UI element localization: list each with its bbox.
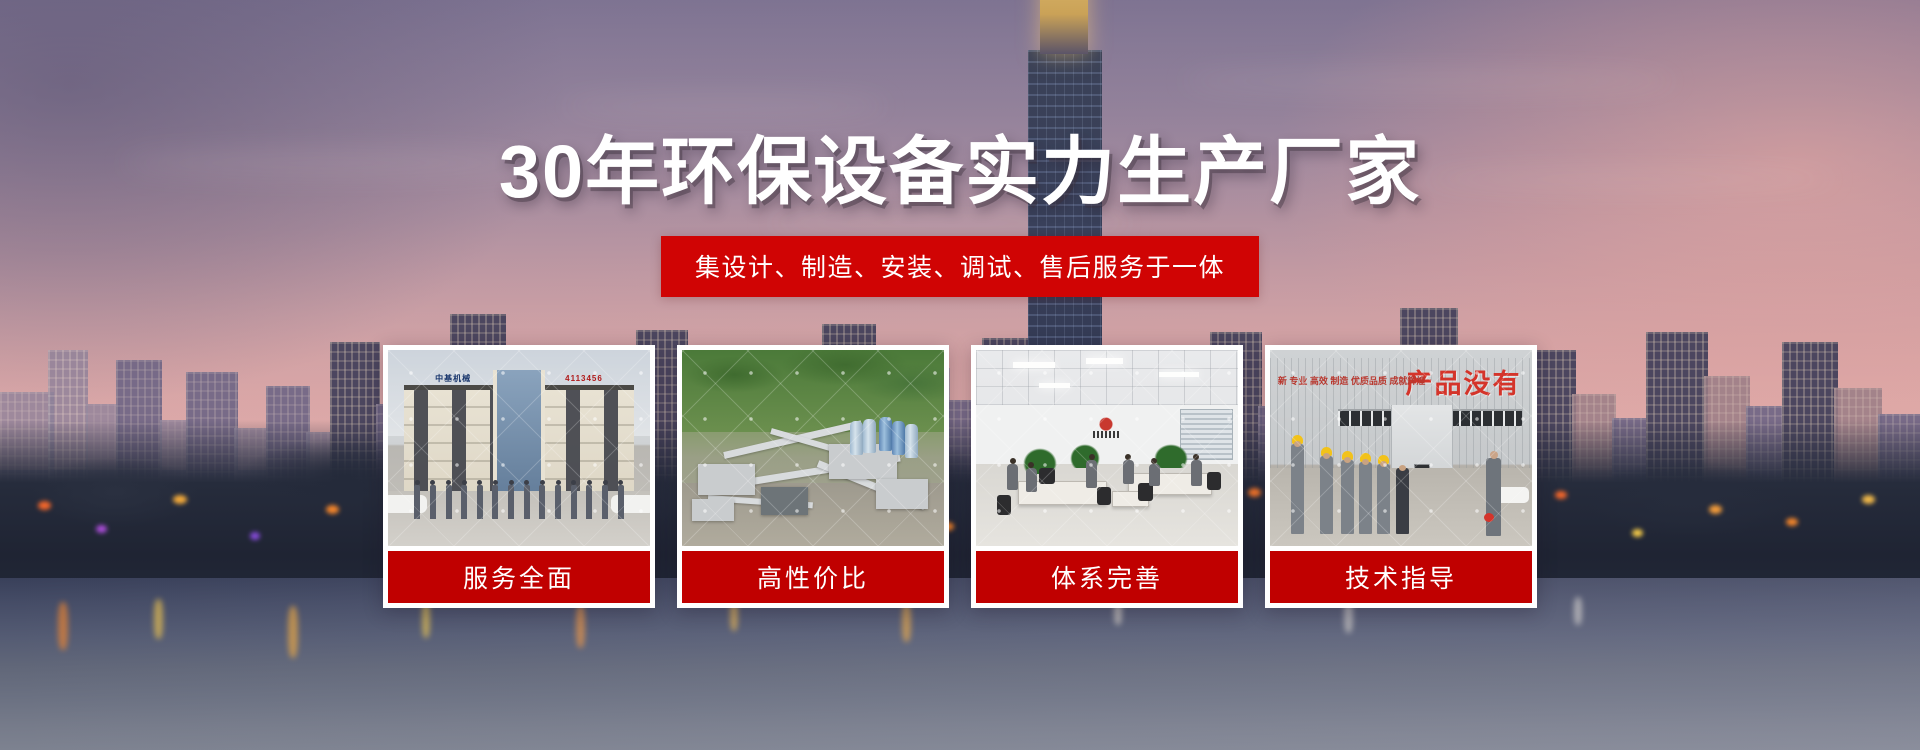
- staff-line-up: [414, 485, 624, 518]
- factory-wall-slogan-small: 新 专业 高效 制造 优质品质 成就辉煌: [1278, 375, 1426, 387]
- page-title: 30年环保设备实力生产厂家: [0, 112, 1920, 219]
- feature-card[interactable]: 高性价比: [677, 345, 949, 608]
- card-photo-aerial-plant: [682, 350, 944, 546]
- worker-figure: [1291, 444, 1304, 534]
- worker-figure: [1341, 460, 1354, 534]
- worker-figure: [1377, 464, 1390, 535]
- feature-card[interactable]: 体系完善: [971, 345, 1243, 608]
- card-photo-company-building: 中基机械 4113456: [388, 350, 650, 546]
- worker-figure: [1396, 468, 1409, 535]
- worker-figure: [1320, 456, 1333, 534]
- wall-logo-icon: [1091, 415, 1121, 441]
- hero-banner: 30年环保设备实力生产厂家 集设计、制造、安装、调试、售后服务于一体 中基机械 …: [0, 0, 1920, 750]
- building-sign-company-name: 中基机械: [435, 373, 471, 384]
- card-label: 体系完善: [976, 551, 1238, 603]
- banner-content: 30年环保设备实力生产厂家 集设计、制造、安装、调试、售后服务于一体 中基机械 …: [0, 0, 1920, 750]
- feature-card[interactable]: 中基机械 4113456 服务全面: [383, 345, 655, 608]
- feature-card[interactable]: 产品没有 新 专业 高效 制造 优质品质 成就辉煌: [1265, 345, 1537, 608]
- feature-card-list: 中基机械 4113456 服务全面: [383, 345, 1537, 608]
- card-photo-office-interior: [976, 350, 1238, 546]
- supervisor-figure: [1486, 458, 1501, 536]
- card-label: 高性价比: [682, 551, 944, 603]
- card-label: 技术指导: [1270, 551, 1532, 603]
- window-blinds: [1180, 409, 1232, 460]
- subtitle-badge: 集设计、制造、安装、调试、售后服务于一体: [661, 236, 1259, 297]
- card-label: 服务全面: [388, 551, 650, 603]
- card-photo-factory-workers: 产品没有 新 专业 高效 制造 优质品质 成就辉煌: [1270, 350, 1532, 546]
- building-sign-phone: 4113456: [565, 374, 603, 383]
- worker-figure: [1359, 462, 1372, 535]
